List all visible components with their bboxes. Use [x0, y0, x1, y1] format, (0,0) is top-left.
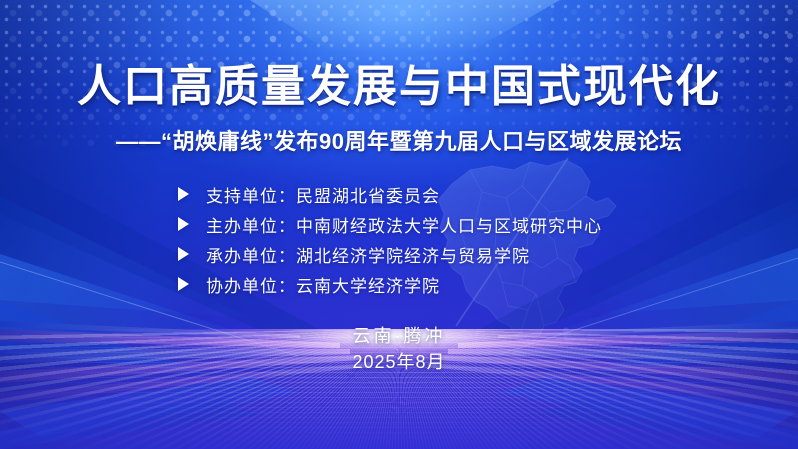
event-location: 云南·腾冲: [0, 322, 798, 348]
list-item: 承办单位：湖北经济学院经济与贸易学院: [176, 240, 696, 268]
organization-coorganizer: 协办单位：云南大学经济学院: [206, 272, 440, 297]
organization-host: 主办单位：中南财经政法大学人口与区域研究中心: [206, 212, 602, 237]
organization-organizer: 承办单位：湖北经济学院经济与贸易学院: [206, 242, 530, 267]
banner-title: 人口高质量发展与中国式现代化: [0, 62, 798, 111]
triangle-right-icon: [176, 246, 192, 262]
organization-list: 支持单位：民盟湖北省委员会 主办单位：中南财经政法大学人口与区域研究中心 承办单…: [176, 180, 696, 300]
list-item: 协办单位：云南大学经济学院: [176, 270, 696, 298]
banner-subtitle: ——“胡焕庸线”发布90周年暨第九届人口与区域发展论坛: [0, 124, 798, 156]
conference-banner: 人口高质量发展与中国式现代化 ——“胡焕庸线”发布90周年暨第九届人口与区域发展…: [0, 0, 798, 449]
triangle-right-icon: [176, 186, 192, 202]
event-date: 2025年8月: [0, 348, 798, 374]
banner-content: 人口高质量发展与中国式现代化 ——“胡焕庸线”发布90周年暨第九届人口与区域发展…: [0, 0, 798, 449]
organization-support: 支持单位：民盟湖北省委员会: [206, 182, 440, 207]
list-item: 主办单位：中南财经政法大学人口与区域研究中心: [176, 210, 696, 238]
triangle-right-icon: [176, 276, 192, 292]
list-item: 支持单位：民盟湖北省委员会: [176, 180, 696, 208]
triangle-right-icon: [176, 216, 192, 232]
